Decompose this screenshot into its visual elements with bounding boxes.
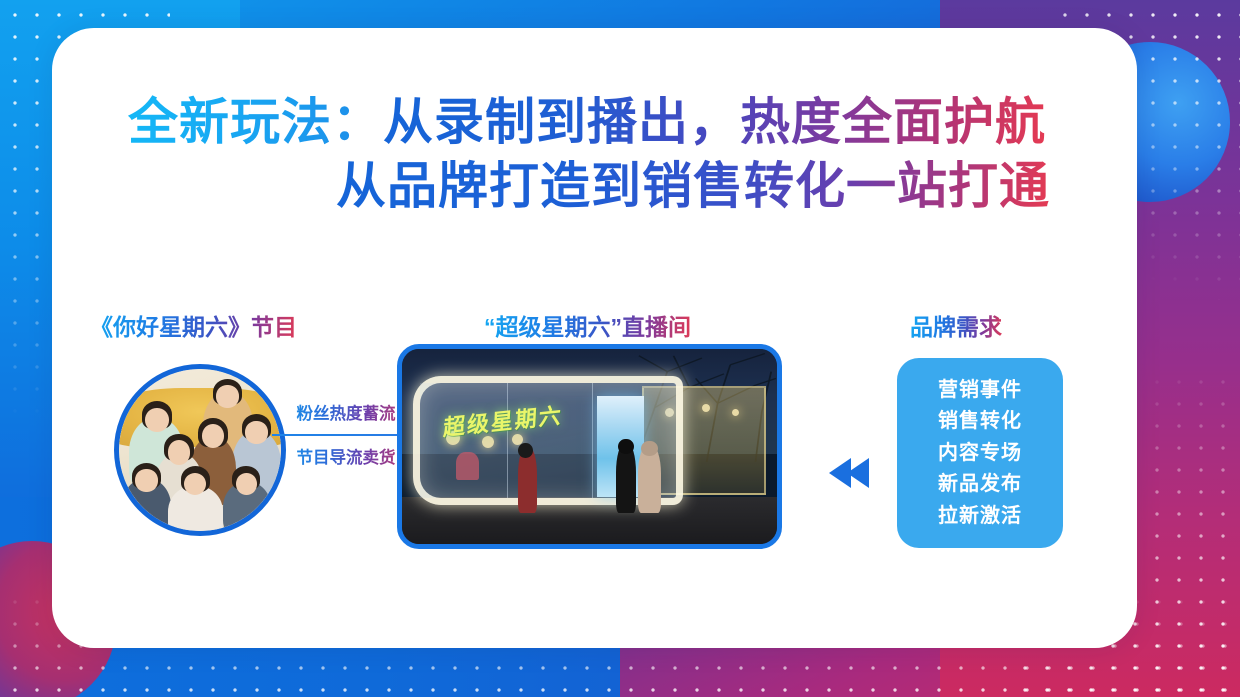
label-live-room: “超级星期六”直播间 [484, 308, 691, 342]
flow-arrow-group: 粉丝热度蓄流 节目导流卖货 [284, 404, 402, 492]
headline-highlight: 全新玩法： [128, 94, 383, 150]
headline-line-2-text: 从品牌打造到销售转化一站打通 [336, 158, 1050, 214]
headline-line-1: 全新玩法：从录制到播出，热度全面护航 [128, 90, 1137, 154]
need-item: 内容专场 [938, 439, 1022, 467]
page-title: 全新玩法：从录制到播出，热度全面护航 从品牌打造到销售转化一站打通 [52, 90, 1137, 218]
need-item: 销售转化 [938, 407, 1022, 435]
need-item: 营销事件 [938, 376, 1022, 404]
program-cast-photo [114, 364, 286, 536]
need-item: 新品发布 [938, 470, 1022, 498]
label-brand-needs: 品牌需求 [910, 308, 1002, 342]
need-item: 拉新激活 [938, 502, 1022, 530]
content-card: 全新玩法：从录制到播出，热度全面护航 从品牌打造到销售转化一站打通 《你好星期六… [52, 28, 1137, 648]
slide-canvas: 全新玩法：从录制到播出，热度全面护航 从品牌打造到销售转化一站打通 《你好星期六… [0, 0, 1240, 697]
brand-needs-box: 营销事件 销售转化 内容专场 新品发布 拉新激活 [897, 358, 1063, 548]
rewind-arrow-icon [825, 456, 877, 490]
flow-arrow-line [272, 434, 414, 436]
flow-diagram: 《你好星期六》节目 “超级星期六”直播间 品牌需求 [52, 296, 1137, 626]
headline-line-2: 从品牌打造到销售转化一站打通 [128, 154, 1137, 218]
live-room-photo: 超级星期六 [397, 344, 782, 549]
label-program: 《你好星期六》节目 [90, 308, 297, 342]
headline-line-1-rest: 从录制到播出，热度全面护航 [383, 94, 1046, 150]
